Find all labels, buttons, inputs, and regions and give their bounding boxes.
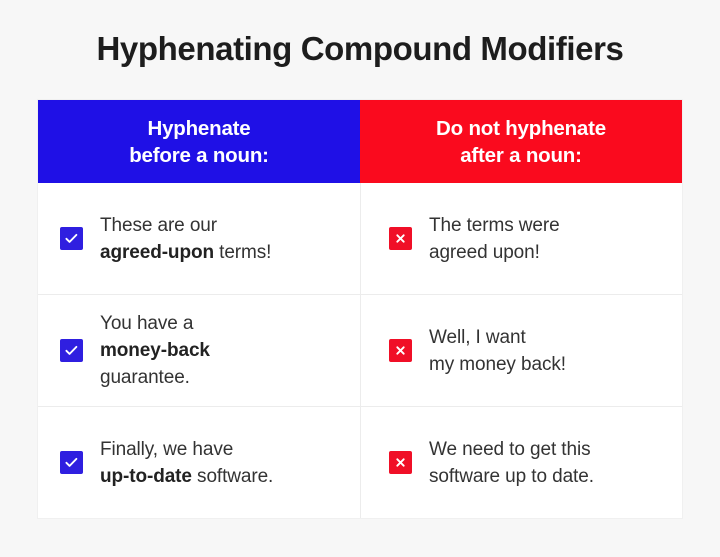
sentence-line-2: money-back (100, 337, 210, 364)
sentence-line-1: The terms were (429, 212, 560, 239)
column-header-hyphenate-line2: before a noun: (129, 142, 269, 169)
table-header-row: Hyphenate before a noun: Do not hyphenat… (38, 100, 682, 183)
incorrect-example-cell: Well, I want my money back! (360, 295, 682, 406)
sentence-line-3: guarantee. (100, 364, 210, 391)
sentence-line-2: agreed-upon terms! (100, 239, 271, 266)
check-icon (60, 339, 83, 362)
sentence-line-2-tail: software. (192, 466, 273, 487)
column-header-do-not-hyphenate-line2: after a noun: (436, 142, 606, 169)
sentence-line-2: software up to date. (429, 463, 594, 490)
incorrect-example-cell: The terms were agreed upon! (360, 183, 682, 294)
column-header-hyphenate-line1: Hyphenate (129, 115, 269, 142)
hyphenated-term: agreed-upon (100, 242, 214, 263)
sentence-line-1: We need to get this (429, 436, 594, 463)
incorrect-example-text: We need to get this software up to date. (429, 436, 594, 490)
sentence-line-1: These are our (100, 212, 271, 239)
x-icon (389, 227, 412, 250)
table-body: These are our agreed-upon terms! The ter… (38, 183, 682, 518)
check-icon (60, 451, 83, 474)
x-icon (389, 451, 412, 474)
hyphenated-term: up-to-date (100, 466, 192, 487)
column-header-do-not-hyphenate-line1: Do not hyphenate (436, 115, 606, 142)
infographic-page: Hyphenating Compound Modifiers Hyphenate… (0, 0, 720, 557)
correct-example-text: These are our agreed-upon terms! (100, 212, 271, 266)
incorrect-example-text: The terms were agreed upon! (429, 212, 560, 266)
check-icon (60, 227, 83, 250)
table-row: You have a money-back guarantee. Well, I… (38, 294, 682, 406)
incorrect-example-cell: We need to get this software up to date. (360, 407, 682, 518)
correct-example-cell: Finally, we have up-to-date software. (38, 407, 360, 518)
sentence-line-2: my money back! (429, 351, 566, 378)
sentence-line-2: up-to-date software. (100, 463, 273, 490)
correct-example-text: You have a money-back guarantee. (100, 310, 210, 391)
incorrect-example-text: Well, I want my money back! (429, 324, 566, 378)
sentence-line-2: agreed upon! (429, 239, 560, 266)
sentence-line-1: Well, I want (429, 324, 566, 351)
x-icon (389, 339, 412, 362)
sentence-line-1: Finally, we have (100, 436, 273, 463)
sentence-line-1: You have a (100, 310, 210, 337)
sentence-line-2-tail: terms! (214, 242, 271, 263)
correct-example-text: Finally, we have up-to-date software. (100, 436, 273, 490)
table-row: Finally, we have up-to-date software. We… (38, 406, 682, 518)
correct-example-cell: You have a money-back guarantee. (38, 295, 360, 406)
correct-example-cell: These are our agreed-upon terms! (38, 183, 360, 294)
page-title: Hyphenating Compound Modifiers (0, 27, 720, 71)
column-header-do-not-hyphenate: Do not hyphenate after a noun: (360, 100, 682, 183)
column-header-hyphenate: Hyphenate before a noun: (38, 100, 360, 183)
table-row: These are our agreed-upon terms! The ter… (38, 183, 682, 294)
comparison-table: Hyphenate before a noun: Do not hyphenat… (38, 100, 682, 518)
hyphenated-term: money-back (100, 340, 210, 361)
